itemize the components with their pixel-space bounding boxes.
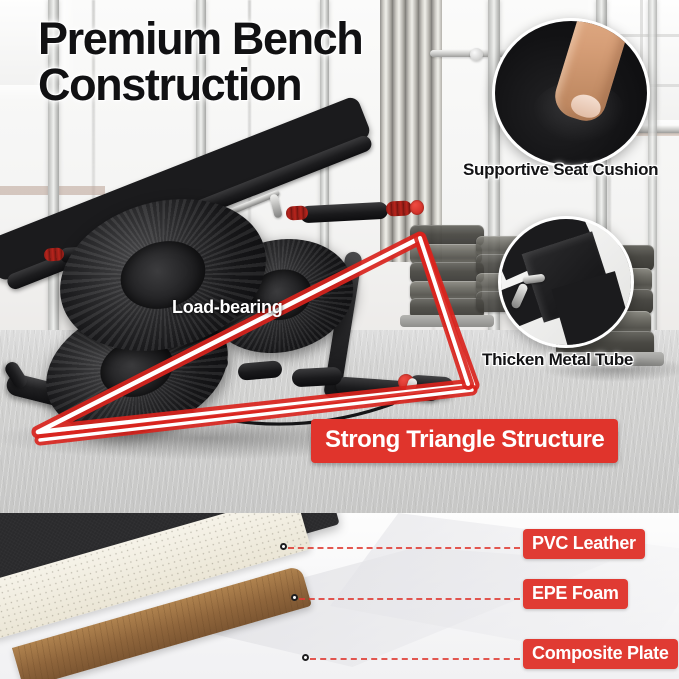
finger-press-icon: [492, 18, 650, 168]
tag-pvc-leather: PVC Leather: [523, 529, 645, 559]
tag-epe-foam: EPE Foam: [523, 579, 628, 609]
strong-triangle-banner: Strong Triangle Structure: [311, 419, 618, 463]
load-bearing-label: Load-bearing: [172, 297, 282, 318]
barbell-collar: [470, 48, 483, 61]
bench-roller-pad: [237, 360, 282, 381]
leader-dot: [291, 594, 298, 601]
leader-dot: [280, 543, 287, 550]
bench-handle-endcap-red: [410, 200, 424, 215]
bench-handle-grip: [386, 200, 413, 216]
leader-dot: [302, 654, 309, 661]
cushion-cutaway: [0, 513, 380, 679]
bench-handle-grip: [286, 205, 309, 220]
bench-handle-foam: [300, 202, 389, 224]
leader-line-pvc-leather: [288, 547, 520, 549]
square-tube-icon: [498, 216, 634, 348]
material-layers-section: PVC Leather EPE Foam Composite Plate: [0, 513, 679, 679]
bench-adjust-hook: [269, 193, 283, 218]
page-title: Premium Bench Construction: [38, 16, 362, 109]
leader-line-epe-foam: [299, 598, 520, 600]
tag-composite-plate: Composite Plate: [523, 639, 678, 669]
product-feature-graphic: Load-bearing Supportive Seat Cushion: [0, 0, 679, 679]
callout-label-seat-cushion: Supportive Seat Cushion: [463, 160, 658, 180]
headline-line-1: Premium Bench: [38, 16, 362, 62]
headline-line-2: Construction: [38, 62, 362, 108]
bench-roller-pad: [292, 367, 343, 388]
bench-handle-grip: [44, 247, 65, 261]
callout-label-metal-tube: Thicken Metal Tube: [482, 350, 633, 370]
leader-line-composite-plate: [310, 658, 520, 660]
